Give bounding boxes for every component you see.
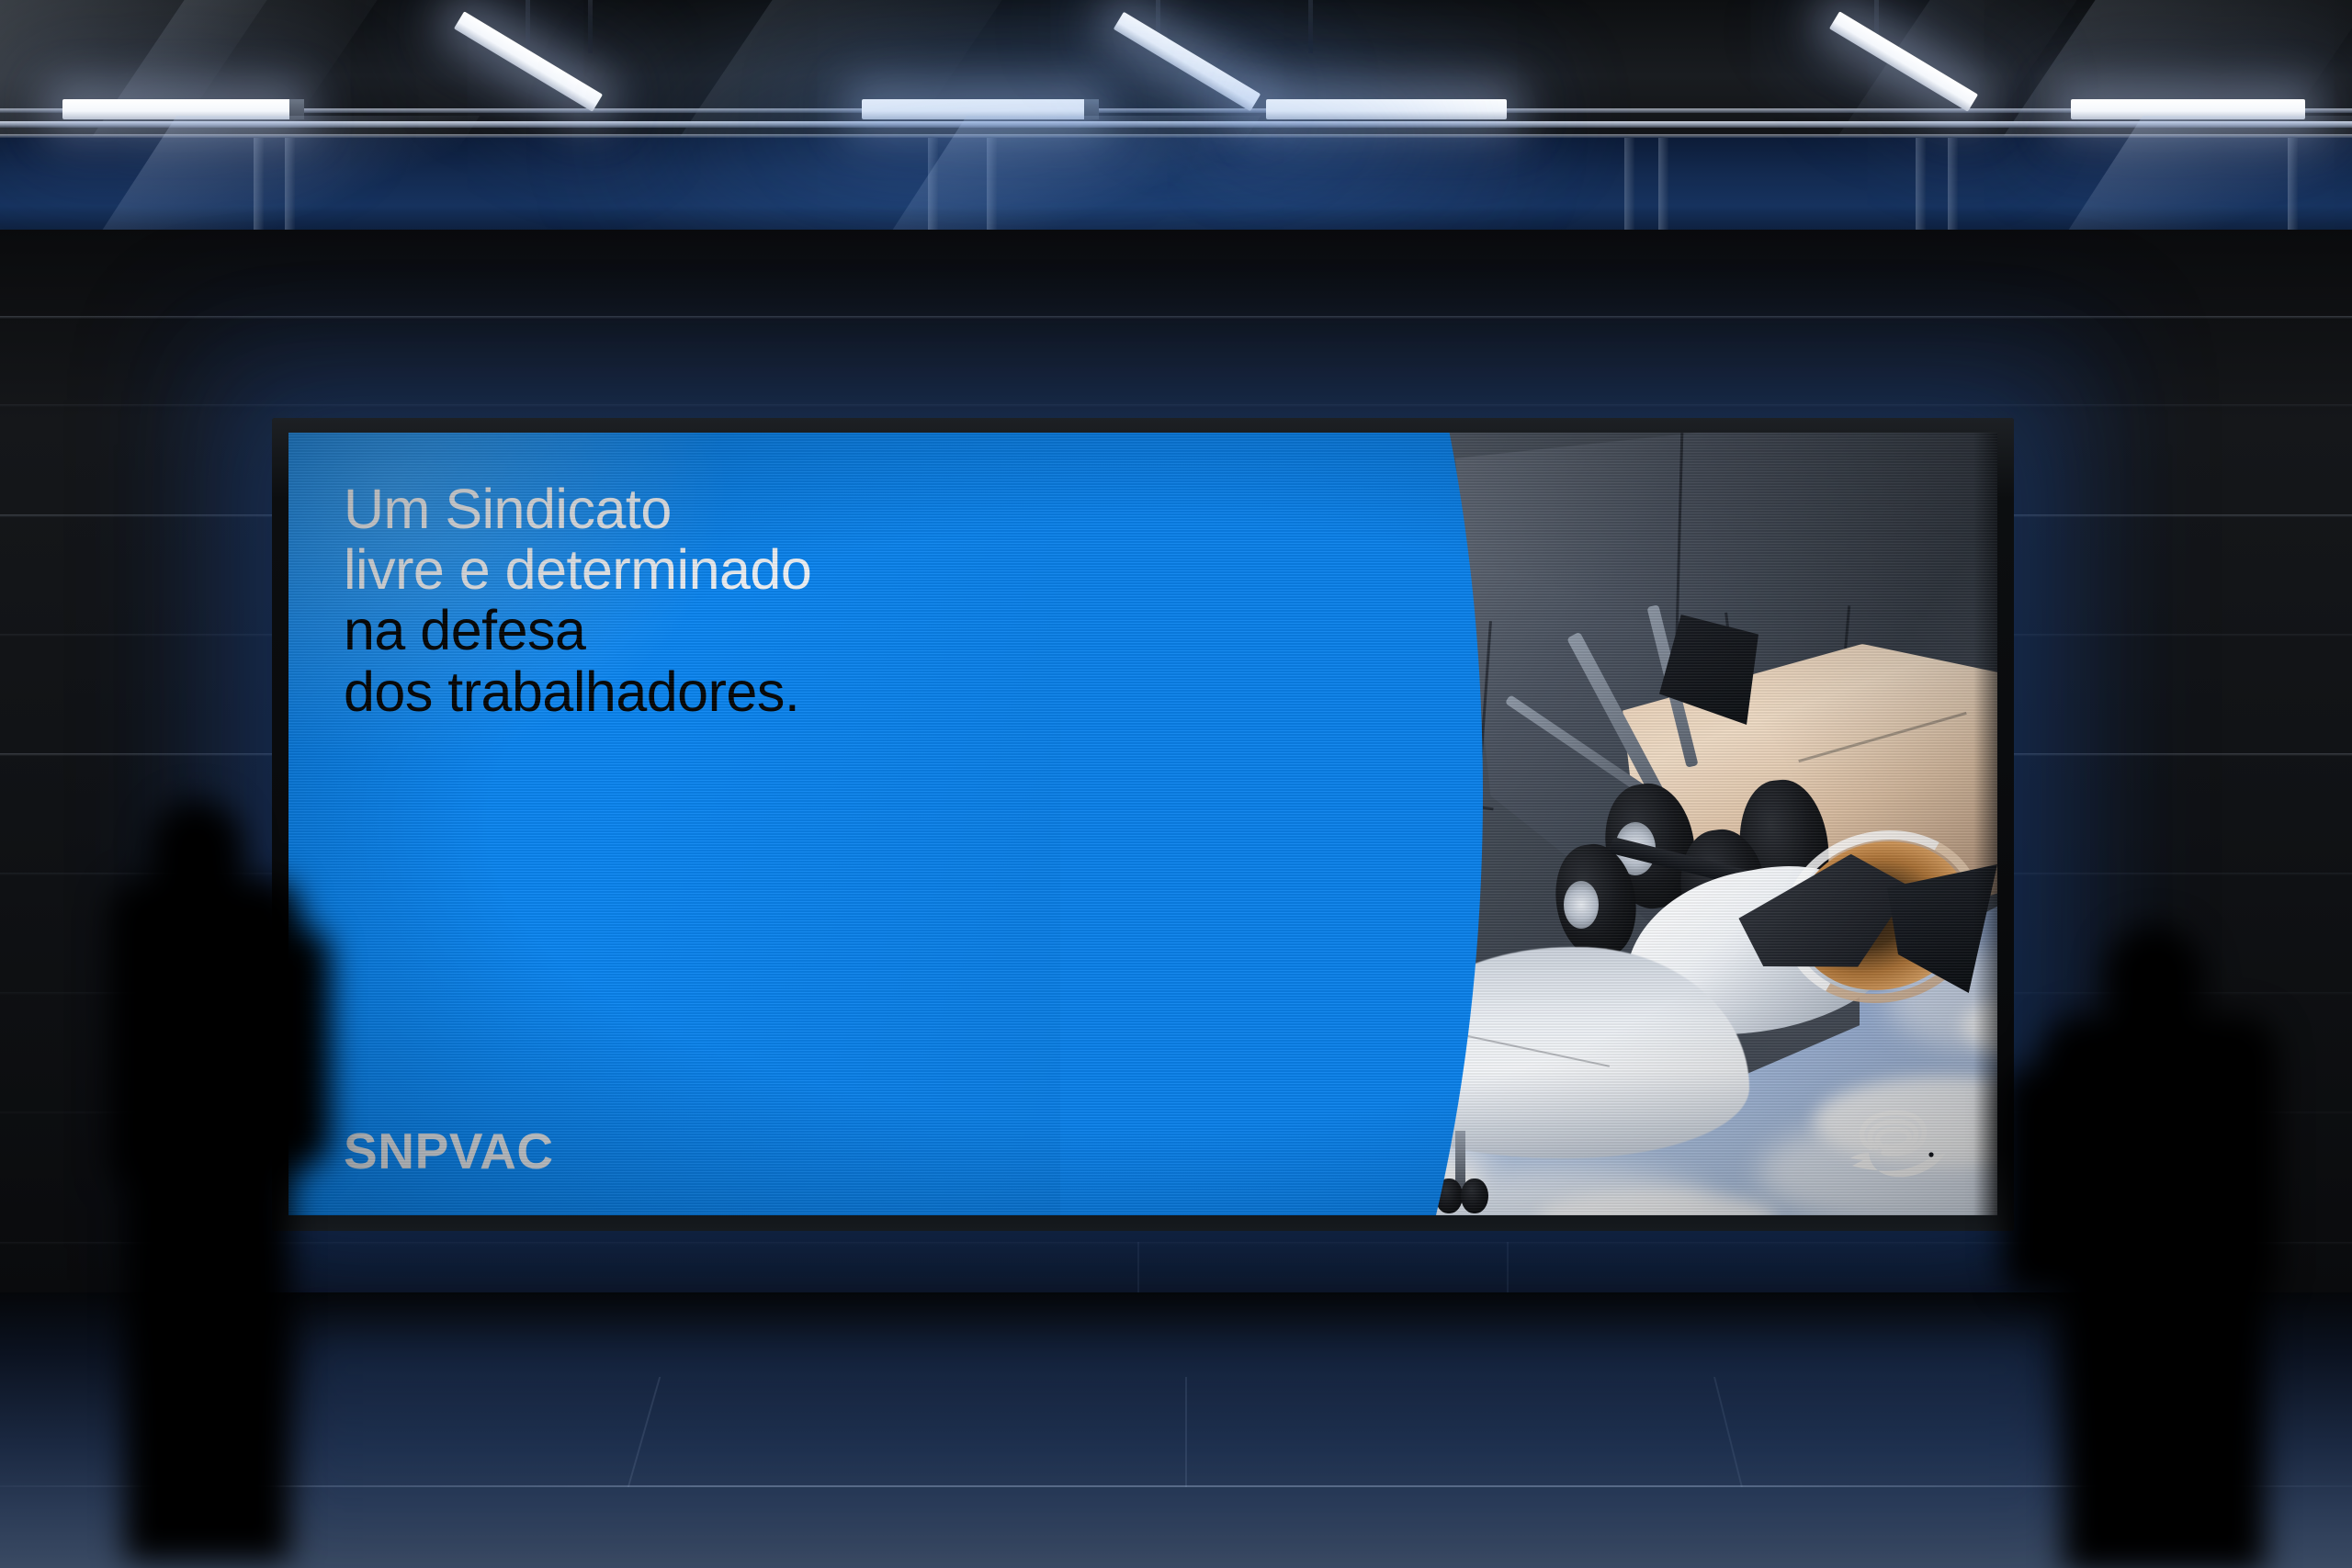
terminal-billboard-scene: Um Sindicato livre e determinado na defe… bbox=[0, 0, 2352, 1568]
wall-seam-1 bbox=[0, 316, 2352, 319]
headline-line-3: na defesa bbox=[344, 600, 1134, 660]
wall-seam-2 bbox=[0, 404, 2352, 407]
floor-joint-2 bbox=[1185, 1377, 1187, 1487]
light-stem-4 bbox=[1308, 0, 1313, 53]
headline-line-1: Um Sindicato bbox=[344, 479, 1134, 539]
main-gear-hub-2 bbox=[1564, 881, 1599, 929]
light-stem-1 bbox=[526, 0, 530, 53]
commuter-right-legs bbox=[2064, 1269, 2266, 1568]
digital-billboard[interactable]: Um Sindicato livre e determinado na defe… bbox=[272, 418, 2014, 1231]
light-stem-2 bbox=[588, 0, 593, 53]
bay-pillar-5 bbox=[1624, 138, 1634, 239]
commuter-left-legs bbox=[125, 1157, 290, 1562]
billboard-headline: Um Sindicato livre e determinado na defe… bbox=[344, 479, 1134, 722]
floor-billboard-reflection bbox=[303, 1331, 2049, 1542]
commuter-left bbox=[92, 790, 367, 1562]
nose-gear-tire-2 bbox=[1461, 1179, 1488, 1213]
commuter-left-arm bbox=[272, 928, 331, 1167]
bay-pillar-7 bbox=[1916, 138, 1926, 239]
commuter-right-arm bbox=[2003, 1066, 2069, 1295]
bird-globe-emblem-icon bbox=[1836, 1100, 1955, 1184]
bay-pillar-8 bbox=[1948, 138, 1958, 239]
headline-line-2: livre e determinado bbox=[344, 539, 1134, 600]
headline-line-4: dos trabalhadores. bbox=[344, 661, 1134, 722]
snpvac-wordmark: SNPVAC bbox=[344, 1122, 554, 1180]
commuter-right bbox=[1975, 919, 2352, 1568]
ceiling-glow-center bbox=[643, 37, 1470, 239]
commuter-right-torso bbox=[2040, 1014, 2278, 1290]
bay-pillar-6 bbox=[1658, 138, 1668, 239]
billboard-screen[interactable]: Um Sindicato livre e determinado na defe… bbox=[288, 433, 1997, 1215]
